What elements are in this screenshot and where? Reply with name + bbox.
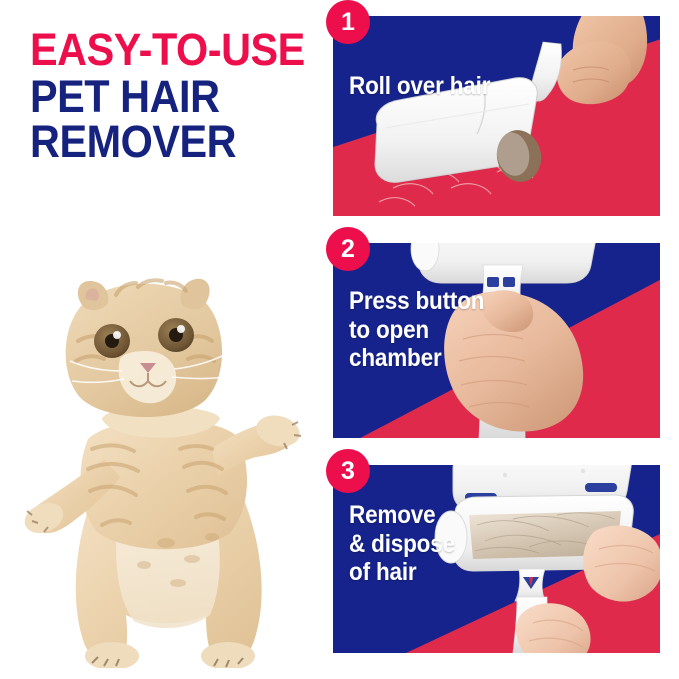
step-panel-1: Roll over hair 1 xyxy=(333,16,660,216)
headline-line-3: REMOVER xyxy=(30,120,292,163)
headline-line-2: PET HAIR xyxy=(30,75,292,118)
cat-photo xyxy=(16,243,316,668)
step-2-button-accent-left xyxy=(487,277,499,287)
step-panel-3: Remove & dispose of hair 3 xyxy=(333,465,660,653)
step-1-photo-illustration xyxy=(333,16,660,216)
step-1-hand xyxy=(557,42,631,104)
headline-line-1: EASY-TO-USE xyxy=(30,28,292,71)
step-1-badge: 1 xyxy=(326,0,370,44)
step-3-image: Remove & dispose of hair xyxy=(333,465,660,653)
step-2-badge: 2 xyxy=(326,227,370,271)
step-2-image: Press button to open chamber xyxy=(333,243,660,438)
step-2-caption: Press button to open chamber xyxy=(349,287,484,373)
step-3-caption: Remove & dispose of hair xyxy=(349,501,455,587)
infographic-canvas: EASY-TO-USE PET HAIR REMOVER xyxy=(0,0,679,679)
left-column: EASY-TO-USE PET HAIR REMOVER xyxy=(0,0,320,679)
headline-block: EASY-TO-USE PET HAIR REMOVER xyxy=(30,28,315,164)
step-3-badge: 3 xyxy=(326,449,370,493)
step-2-button-accent-right xyxy=(503,277,515,287)
step-1-caption: Roll over hair xyxy=(349,72,490,101)
step-3-lid-clip-right xyxy=(585,483,617,492)
step-1-image: Roll over hair xyxy=(333,16,660,216)
step-panel-2: Press button to open chamber 2 xyxy=(333,243,660,438)
